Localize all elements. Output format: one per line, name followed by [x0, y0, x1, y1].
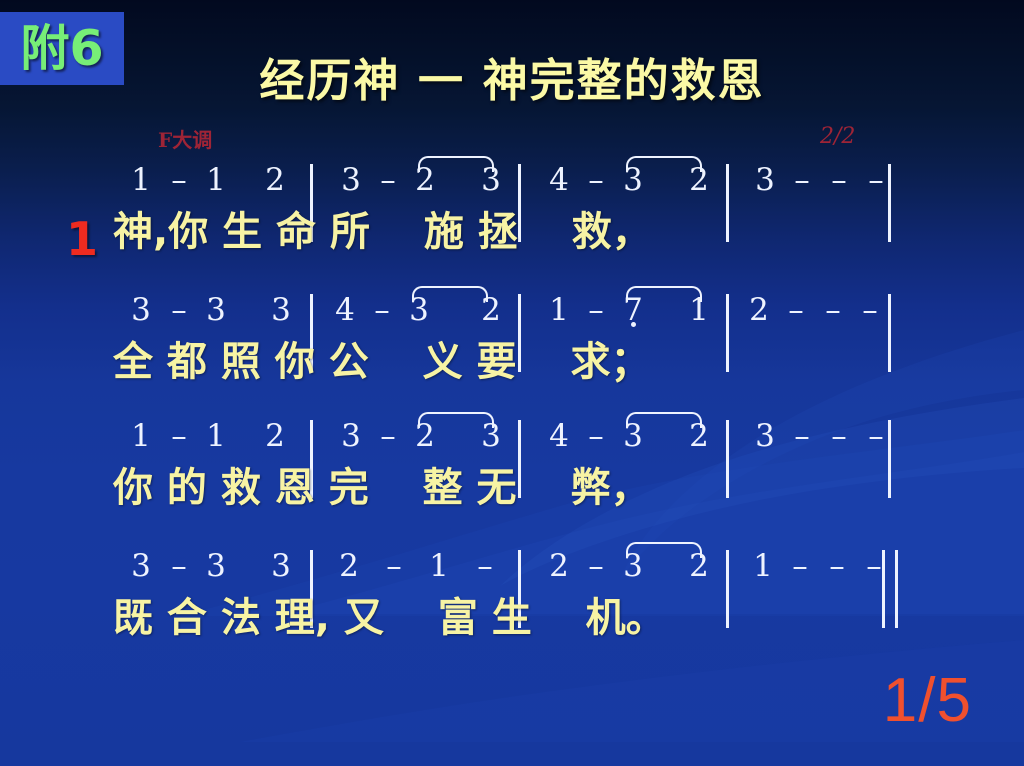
note-sustain-dash: –: [863, 162, 889, 198]
note-number: 3: [478, 418, 504, 454]
note-number: 2: [412, 162, 438, 198]
note-number: 4: [546, 162, 572, 198]
note-number: 1: [426, 548, 452, 584]
note-sustain-dash: –: [583, 162, 609, 198]
page-title: 经历神 一 神完整的救恩: [0, 44, 1024, 109]
low-octave-dot: [631, 322, 636, 327]
note-number: 2: [336, 548, 362, 584]
music-system: 1–123–234–323–––神,你 生 命 所 施 拯 救，: [0, 162, 1024, 290]
key-signature-label: F大调: [158, 124, 212, 153]
note-sustain-dash: –: [166, 418, 192, 454]
lyric-text: 既 合 法 理, 又 富 生 机。: [113, 592, 666, 644]
note-number: 3: [128, 292, 154, 328]
note-number: 1: [546, 292, 572, 328]
music-system: 3–332–1–2–321–––既 合 法 理, 又 富 生 机。: [0, 548, 1024, 676]
note-number: 1: [750, 548, 776, 584]
note-sustain-dash: –: [789, 418, 815, 454]
lyric-text: 你 的 救 恩 完 整 无 弊，: [113, 462, 650, 514]
music-system: 1–123–234–323–––你 的 救 恩 完 整 无 弊，: [0, 418, 1024, 546]
note-number: 3: [620, 418, 646, 454]
time-signature-label: 2/2: [820, 124, 855, 149]
note-number: 3: [620, 162, 646, 198]
note-number: 7: [620, 292, 646, 328]
note-number: 1: [203, 418, 229, 454]
notation-row: 1–123–234–323–––: [0, 162, 1024, 210]
note-sustain-dash: –: [789, 162, 815, 198]
note-number: 3: [268, 292, 294, 328]
note-number: 3: [128, 548, 154, 584]
note-number: 1: [203, 162, 229, 198]
note-sustain-dash: –: [583, 418, 609, 454]
note-number: 2: [686, 162, 712, 198]
note-number: 3: [406, 292, 432, 328]
note-sustain-dash: –: [166, 292, 192, 328]
note-sustain-dash: –: [863, 418, 889, 454]
note-sustain-dash: –: [820, 292, 846, 328]
note-sustain-dash: –: [166, 548, 192, 584]
note-number: 4: [332, 292, 358, 328]
note-number: 2: [478, 292, 504, 328]
note-number: 2: [546, 548, 572, 584]
note-number: 3: [203, 548, 229, 584]
note-sustain-dash: –: [583, 548, 609, 584]
note-sustain-dash: –: [857, 292, 883, 328]
note-sustain-dash: –: [369, 292, 395, 328]
note-sustain-dash: –: [861, 548, 887, 584]
lyric-text: 全 都 照 你 公 义 要 求；: [113, 336, 650, 388]
note-sustain-dash: –: [826, 162, 852, 198]
lyric-row: 全 都 照 你 公 义 要 求；: [0, 336, 1024, 406]
note-sustain-dash: –: [381, 548, 407, 584]
note-number: 3: [203, 292, 229, 328]
lyric-text: 神,你 生 命 所 施 拯 救，: [113, 206, 652, 258]
note-number: 1: [128, 418, 154, 454]
note-number: 2: [746, 292, 772, 328]
music-system: 3–334–321–712–––全 都 照 你 公 义 要 求；: [0, 292, 1024, 420]
note-sustain-dash: –: [783, 292, 809, 328]
note-sustain-dash: –: [472, 548, 498, 584]
lyric-row: 神,你 生 命 所 施 拯 救，: [0, 206, 1024, 276]
page-counter-label: 1/5: [883, 665, 972, 736]
lyric-row: 既 合 法 理, 又 富 生 机。: [0, 592, 1024, 662]
note-number: 1: [128, 162, 154, 198]
note-sustain-dash: –: [583, 292, 609, 328]
note-sustain-dash: –: [787, 548, 813, 584]
note-number: 2: [686, 548, 712, 584]
note-number: 3: [338, 418, 364, 454]
note-number: 2: [262, 162, 288, 198]
slide-canvas: 附6 经历神 一 神完整的救恩 F大调 2/2 1 1–123–234–323–…: [0, 0, 1024, 766]
note-number: 3: [268, 548, 294, 584]
note-sustain-dash: –: [375, 162, 401, 198]
note-number: 3: [478, 162, 504, 198]
lyric-row: 你 的 救 恩 完 整 无 弊，: [0, 462, 1024, 532]
note-number: 3: [338, 162, 364, 198]
note-number: 1: [686, 292, 712, 328]
note-number: 3: [752, 162, 778, 198]
note-number: 4: [546, 418, 572, 454]
note-number: 2: [262, 418, 288, 454]
note-number: 3: [752, 418, 778, 454]
note-number: 2: [412, 418, 438, 454]
notation-row: 1–123–234–323–––: [0, 418, 1024, 466]
note-sustain-dash: –: [375, 418, 401, 454]
note-number: 3: [620, 548, 646, 584]
note-sustain-dash: –: [166, 162, 192, 198]
notation-row: 3–334–321–712–––: [0, 292, 1024, 340]
notation-row: 3–332–1–2–321–––: [0, 548, 1024, 596]
note-sustain-dash: –: [826, 418, 852, 454]
note-sustain-dash: –: [824, 548, 850, 584]
note-number: 2: [686, 418, 712, 454]
